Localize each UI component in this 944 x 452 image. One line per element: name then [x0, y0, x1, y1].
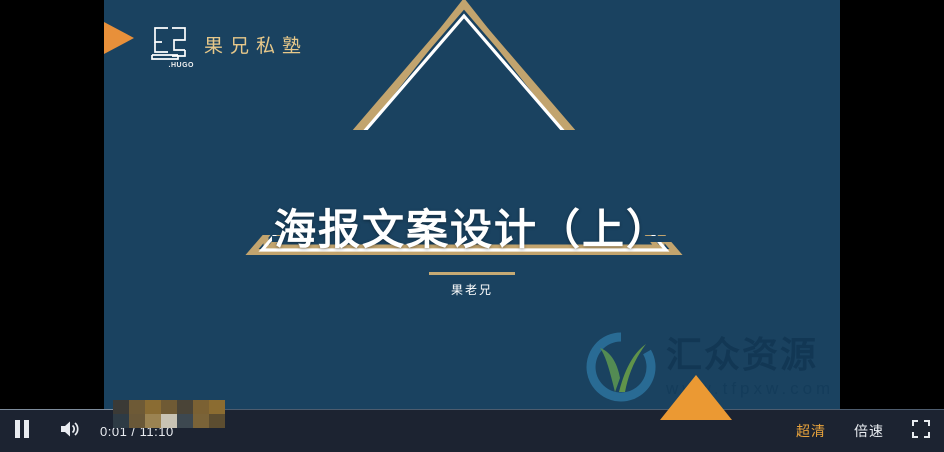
quality-selector-button[interactable]: 超清 — [782, 410, 840, 452]
video-stage[interactable]: .HUGO 果兄私塾 海报文案设计（上） 果老兄 — [104, 0, 840, 410]
slide-author: 果老兄 — [104, 281, 840, 298]
volume-icon — [59, 419, 81, 444]
pause-button[interactable] — [0, 410, 44, 452]
watermark-orange-triangle-icon — [660, 375, 732, 420]
volume-button[interactable] — [44, 410, 96, 452]
brand-name-text: 果兄私塾 — [204, 31, 308, 58]
watermark-site-name: 汇众资源 — [666, 337, 834, 373]
corner-play-triangle-icon — [104, 22, 134, 54]
slide-brand-lockup: .HUGO 果兄私塾 — [148, 22, 308, 66]
gs-monogram-logo-icon: .HUGO — [148, 22, 192, 66]
fullscreen-button[interactable] — [898, 410, 944, 452]
playback-speed-button[interactable]: 倍速 — [840, 410, 898, 452]
video-player: .HUGO 果兄私塾 海报文案设计（上） 果老兄 — [0, 0, 944, 452]
brand-hugo-text: .HUGO — [169, 62, 194, 69]
pause-icon — [14, 420, 30, 443]
mosaic-censor-overlay — [113, 400, 225, 428]
slide-title: 海报文案设计（上） — [104, 196, 840, 257]
fullscreen-icon — [912, 420, 930, 443]
title-divider — [429, 272, 515, 275]
leaf-circle-logo-icon — [584, 330, 658, 404]
